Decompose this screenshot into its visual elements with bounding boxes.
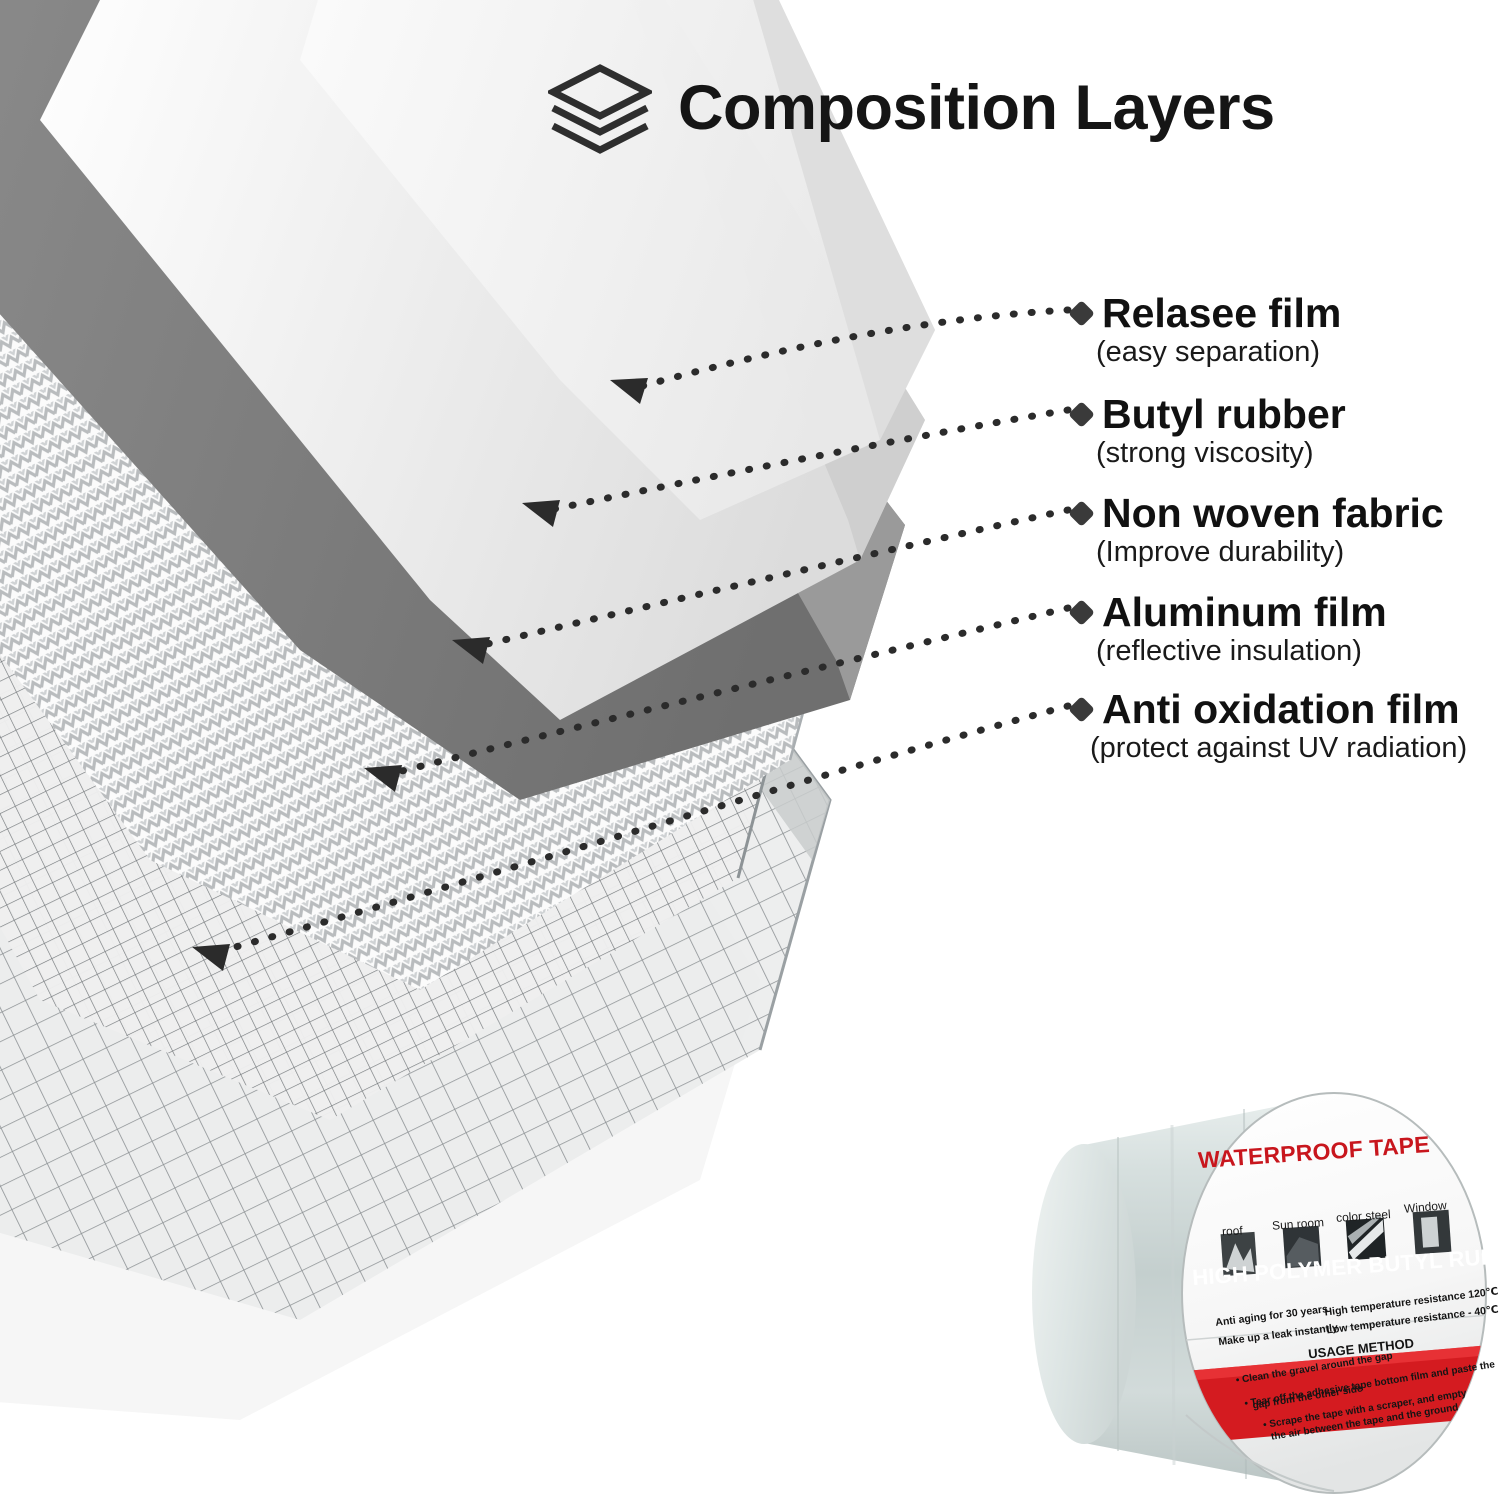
callout-butyl-rubber: Butyl rubber (strong viscosity) <box>1072 393 1346 470</box>
callout-dot-icon <box>1068 599 1095 626</box>
callout-note: (strong viscosity) <box>1096 438 1346 470</box>
thumbnail-caption-roof: roof <box>1222 1223 1243 1238</box>
callout-note: (Improve durability) <box>1096 537 1444 569</box>
callout-dot-icon <box>1068 500 1095 527</box>
infographic-canvas: Composition Layers Relasee film (easy se… <box>0 0 1500 1500</box>
page-title: Composition Layers <box>678 77 1275 140</box>
callout-release-film: Relasee film (easy separation) <box>1072 292 1341 369</box>
callout-note: (protect against UV radiation) <box>1090 733 1467 765</box>
callout-note: (easy separation) <box>1096 337 1341 369</box>
callout-title: Butyl rubber <box>1102 393 1346 436</box>
callout-title: Non woven fabric <box>1102 492 1444 535</box>
callout-dot-icon <box>1068 300 1095 327</box>
layers-stack-icon <box>548 62 652 154</box>
callout-aluminum-film: Aluminum film (reflective insulation) <box>1072 591 1387 668</box>
callout-title: Relasee film <box>1102 292 1341 335</box>
product-roll-image <box>1022 1085 1500 1500</box>
callout-note: (reflective insulation) <box>1096 636 1387 668</box>
callout-dot-icon <box>1068 401 1095 428</box>
callout-title: Anti oxidation film <box>1102 688 1467 731</box>
callout-non-woven-fabric: Non woven fabric (Improve durability) <box>1072 492 1444 569</box>
callout-anti-oxidation-film: Anti oxidation film (protect against UV … <box>1072 688 1467 765</box>
callout-title: Aluminum film <box>1102 591 1387 634</box>
page-title-block: Composition Layers <box>548 62 1275 154</box>
callout-dot-icon <box>1068 696 1095 723</box>
